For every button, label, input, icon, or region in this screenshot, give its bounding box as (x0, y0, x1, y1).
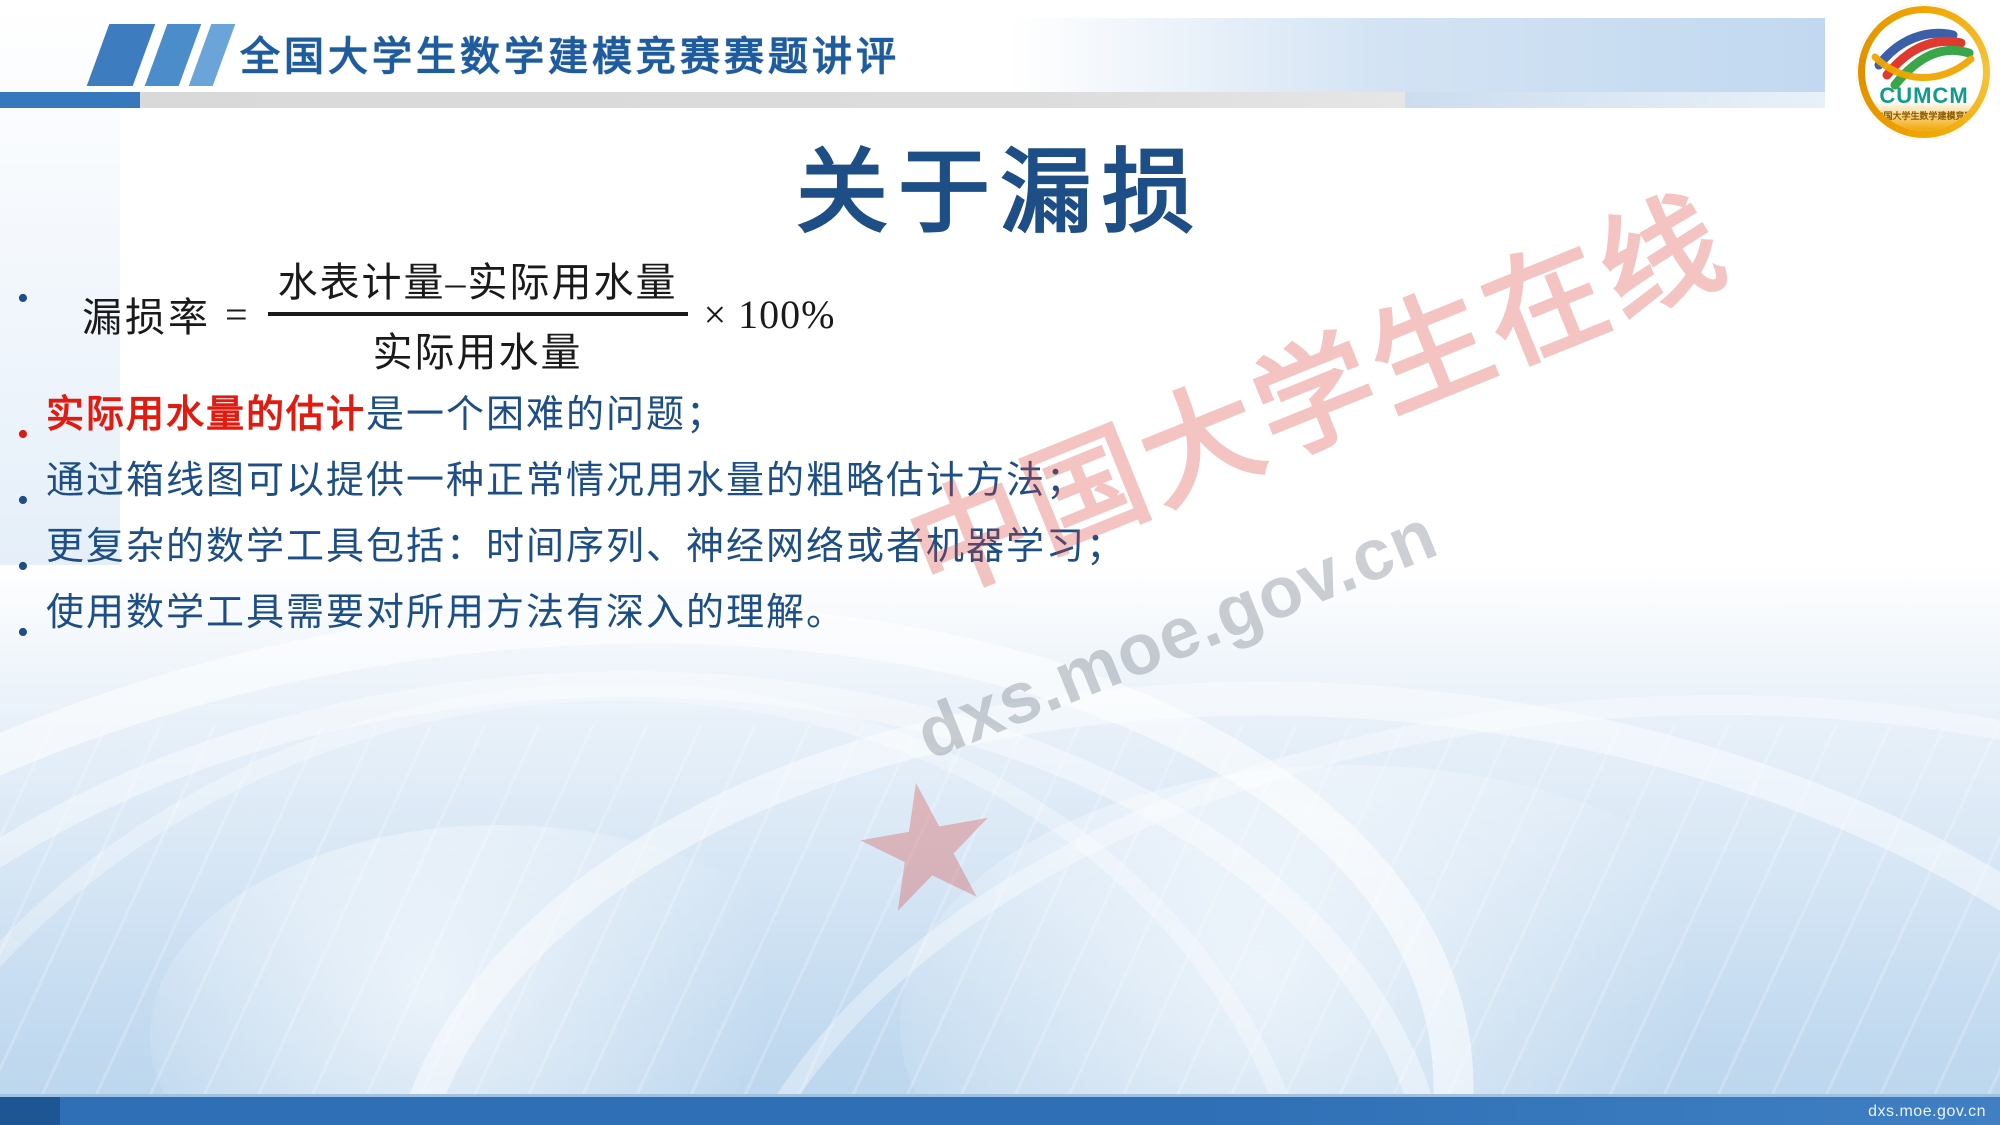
formula-fraction-bar (268, 312, 688, 316)
slide-canvas: 全国大学生数学建模竞赛赛题讲评 CUMCM 中国大学生数学建模竞赛 关于漏损 •… (0, 0, 2000, 1125)
list-item-rest: 更复杂的数学工具包括：时间序列、神经网络或者机器学习； (46, 526, 1126, 568)
leakage-rate-formula: 漏损率 = 水表计量–实际用水量 实际用水量 × 100% (82, 250, 835, 378)
slide-header: 全国大学生数学建模竞赛赛题讲评 (0, 0, 2000, 120)
formula-equals: = (225, 291, 248, 338)
list-item: • 通过箱线图可以提供一种正常情况用水量的粗略估计方法； (0, 458, 1480, 518)
list-item-text: 更复杂的数学工具包括：时间序列、神经网络或者机器学习； (46, 524, 1480, 570)
bullet-marker: • (0, 590, 46, 650)
bullet-marker: • (0, 250, 46, 316)
footer-left-block (0, 1097, 60, 1125)
slide-footer: dxs.moe.gov.cn (0, 1097, 2000, 1125)
formula-denominator: 实际用水量 (363, 320, 593, 378)
page-title: 关于漏损 (0, 118, 2000, 251)
header-band-right (1405, 92, 1825, 108)
bullet-marker: • (0, 392, 46, 452)
list-item: • 更复杂的数学工具包括：时间序列、神经网络或者机器学习； (0, 524, 1480, 584)
list-item: • 实际用水量的估计是一个困难的问题； (0, 392, 1480, 452)
footer-url: dxs.moe.gov.cn (1868, 1103, 1986, 1121)
formula-label: 漏损率 (82, 285, 211, 343)
slide-body: • 漏损率 = 水表计量–实际用水量 实际用水量 × 100% • 实际用水量的… (0, 250, 1480, 656)
list-item-rest: 通过箱线图可以提供一种正常情况用水量的粗略估计方法； (46, 460, 1086, 502)
formula-numerator: 水表计量–实际用水量 (268, 250, 688, 308)
bullet-marker: • (0, 524, 46, 584)
header-right-tint (1010, 18, 1825, 92)
header-title: 全国大学生数学建模竞赛赛题讲评 (240, 24, 900, 82)
formula-fraction: 水表计量–实际用水量 实际用水量 (268, 250, 688, 378)
bullet-marker: • (0, 458, 46, 518)
logo-inner: CUMCM 中国大学生数学建模竞赛 (1865, 13, 1983, 131)
header-slab-icon-1 (87, 24, 156, 86)
list-item: • 使用数学工具需要对所用方法有深入的理解。 (0, 590, 1480, 650)
formula-tail: × 100% (704, 291, 836, 338)
list-item-text: 使用数学工具需要对所用方法有深入的理解。 (46, 590, 1480, 636)
list-item-rest: 使用数学工具需要对所用方法有深入的理解。 (46, 592, 846, 634)
header-blue-band-left (0, 92, 140, 108)
header-gray-band (140, 92, 1405, 108)
emphasis-text: 实际用水量的估计 (46, 394, 366, 436)
list-item-text: 通过箱线图可以提供一种正常情况用水量的粗略估计方法； (46, 458, 1480, 504)
list-item-rest: 是一个困难的问题； (366, 394, 726, 436)
list-item: • 漏损率 = 水表计量–实际用水量 实际用水量 × 100% (0, 250, 1480, 378)
list-item-text: 实际用水量的估计是一个困难的问题； (46, 392, 1480, 438)
